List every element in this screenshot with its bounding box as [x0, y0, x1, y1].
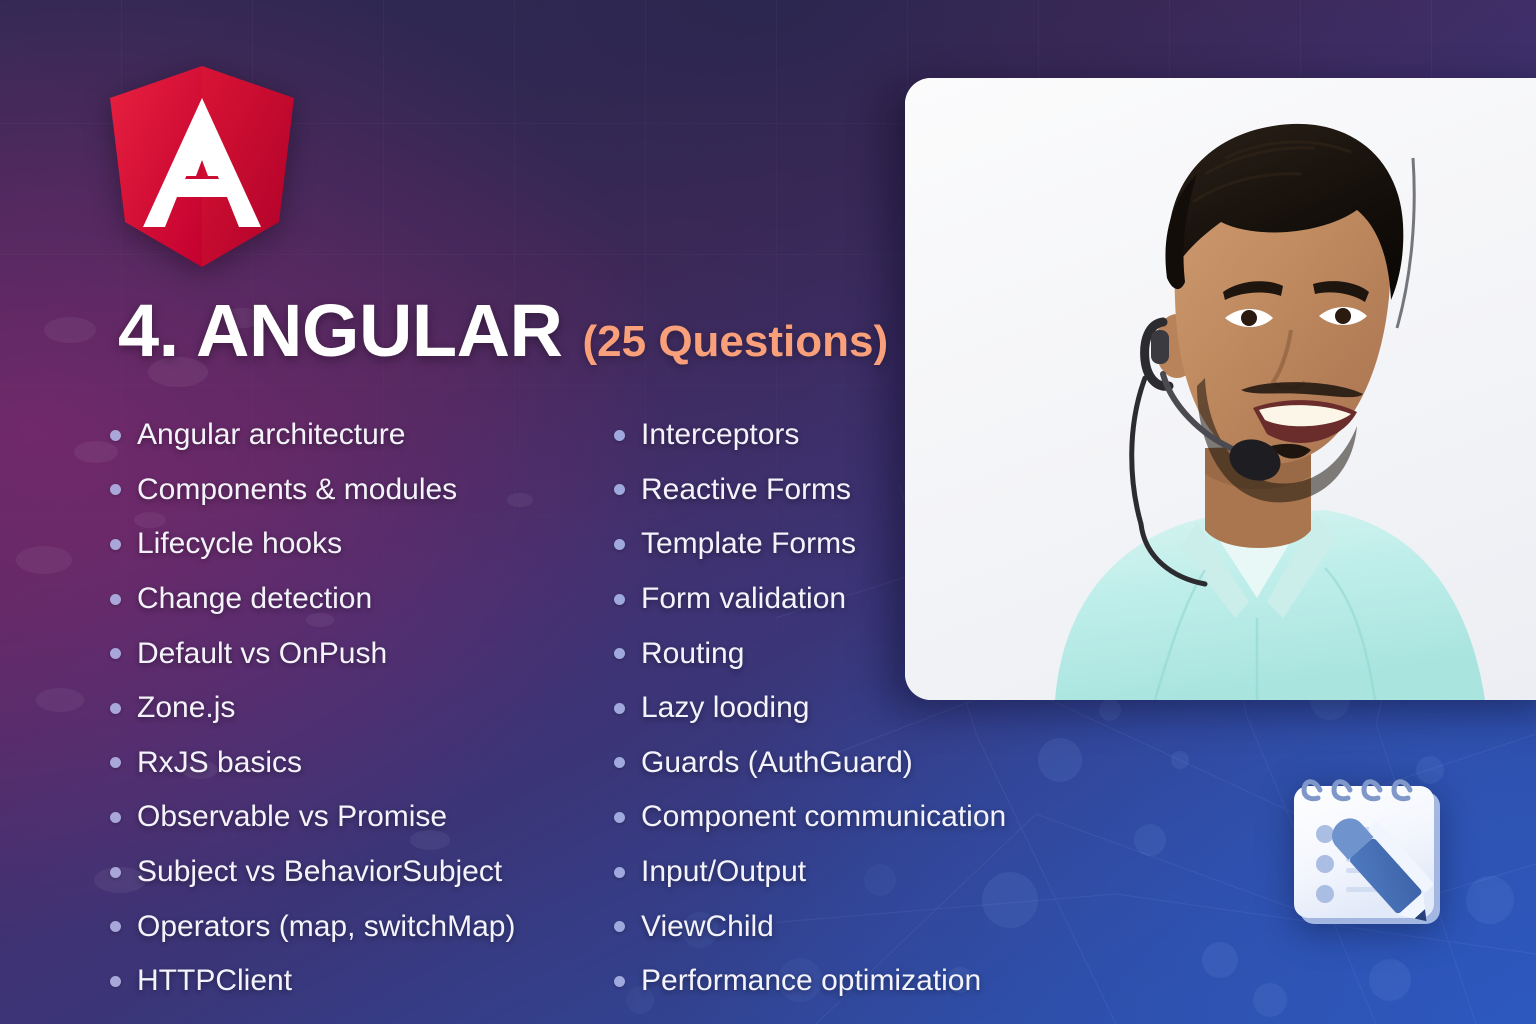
- topic-list-item: Zone.js: [110, 681, 610, 736]
- topic-list-item-label: Lazy looding: [641, 693, 809, 723]
- bullet-dot-icon: [110, 757, 121, 768]
- slide-canvas: 4. ANGULAR (25 Questions) Angular archit…: [0, 0, 1536, 1024]
- bullet-dot-icon: [110, 648, 121, 659]
- topic-list-item-label: Change detection: [137, 584, 372, 614]
- topic-list-item: Interceptors: [614, 408, 1174, 463]
- topic-list-item: Components & modules: [110, 463, 610, 518]
- bullet-dot-icon: [614, 812, 625, 823]
- topic-list-item-label: Subject vs BehaviorSubject: [137, 857, 502, 887]
- bullet-dot-icon: [614, 484, 625, 495]
- topic-list-item-label: RxJS basics: [137, 748, 302, 778]
- topic-list-item-label: Observable vs Promise: [137, 802, 447, 832]
- page-title-main: 4. ANGULAR: [118, 294, 563, 368]
- topic-list-item: Change detection: [110, 572, 610, 627]
- topic-column-left: Angular architectureComponents & modules…: [110, 408, 610, 1009]
- topic-list-item: Input/Output: [614, 845, 1174, 900]
- topic-list-item: Lazy looding: [614, 681, 1174, 736]
- angular-logo: [104, 64, 300, 269]
- topic-list-item-label: Form validation: [641, 584, 846, 614]
- topic-list-item: Observable vs Promise: [110, 790, 610, 845]
- topic-list-item-label: Guards (AuthGuard): [641, 748, 913, 778]
- topic-list-item-label: Operators (map, switchMap): [137, 912, 515, 942]
- topic-list-item: Guards (AuthGuard): [614, 736, 1174, 791]
- topic-list-item-label: Default vs OnPush: [137, 639, 387, 669]
- bullet-dot-icon: [110, 867, 121, 878]
- bullet-dot-icon: [614, 430, 625, 441]
- topic-list-item-label: Lifecycle hooks: [137, 529, 342, 559]
- topic-list-item: Routing: [614, 626, 1174, 681]
- topic-list-item-label: Components & modules: [137, 475, 457, 505]
- bullet-dot-icon: [614, 921, 625, 932]
- topic-list-item-label: Zone.js: [137, 693, 235, 723]
- topic-list-item: Reactive Forms: [614, 463, 1174, 518]
- bullet-dot-icon: [614, 594, 625, 605]
- bullet-dot-icon: [110, 430, 121, 441]
- bullet-dot-icon: [614, 757, 625, 768]
- topic-list-item: RxJS basics: [110, 736, 610, 791]
- topic-list-item-label: Template Forms: [641, 529, 856, 559]
- bullet-dot-icon: [614, 867, 625, 878]
- topic-list-item: Operators (map, switchMap): [110, 899, 610, 954]
- topic-list-item-label: Reactive Forms: [641, 475, 851, 505]
- bullet-dot-icon: [110, 484, 121, 495]
- topic-list-item: Angular architecture: [110, 408, 610, 463]
- bullet-dot-icon: [110, 976, 121, 987]
- bullet-dot-icon: [110, 703, 121, 714]
- bullet-dot-icon: [614, 539, 625, 550]
- topic-column-right: InterceptorsReactive FormsTemplate Forms…: [614, 408, 1174, 1009]
- topic-list-item-label: Angular architecture: [137, 420, 405, 450]
- topic-list-item-label: HTTPClient: [137, 966, 292, 996]
- topic-list-item: Form validation: [614, 572, 1174, 627]
- bullet-dot-icon: [614, 976, 625, 987]
- topic-list-item: Template Forms: [614, 517, 1174, 572]
- topic-list-item: HTTPClient: [110, 954, 610, 1009]
- topic-list-item: Component communication: [614, 790, 1174, 845]
- topic-list-item-label: ViewChild: [641, 912, 774, 942]
- bullet-dot-icon: [614, 703, 625, 714]
- notepad-pencil-icon: [1278, 768, 1454, 934]
- topic-list-item: ViewChild: [614, 899, 1174, 954]
- bullet-dot-icon: [110, 812, 121, 823]
- topic-list-item: Subject vs BehaviorSubject: [110, 845, 610, 900]
- page-title: 4. ANGULAR (25 Questions): [118, 294, 888, 368]
- topic-list-item-label: Component communication: [641, 802, 1006, 832]
- topic-list-item: Performance optimization: [614, 954, 1174, 1009]
- bullet-dot-icon: [110, 539, 121, 550]
- bullet-dot-icon: [110, 594, 121, 605]
- bullet-dot-icon: [110, 921, 121, 932]
- topic-list-item: Default vs OnPush: [110, 626, 610, 681]
- topic-list-item: Lifecycle hooks: [110, 517, 610, 572]
- bullet-dot-icon: [614, 648, 625, 659]
- page-title-question-count: (25 Questions): [583, 320, 889, 364]
- topic-list-item-label: Performance optimization: [641, 966, 981, 996]
- topic-list-item-label: Input/Output: [641, 857, 806, 887]
- topic-list-item-label: Interceptors: [641, 420, 799, 450]
- topic-list-item-label: Routing: [641, 639, 744, 669]
